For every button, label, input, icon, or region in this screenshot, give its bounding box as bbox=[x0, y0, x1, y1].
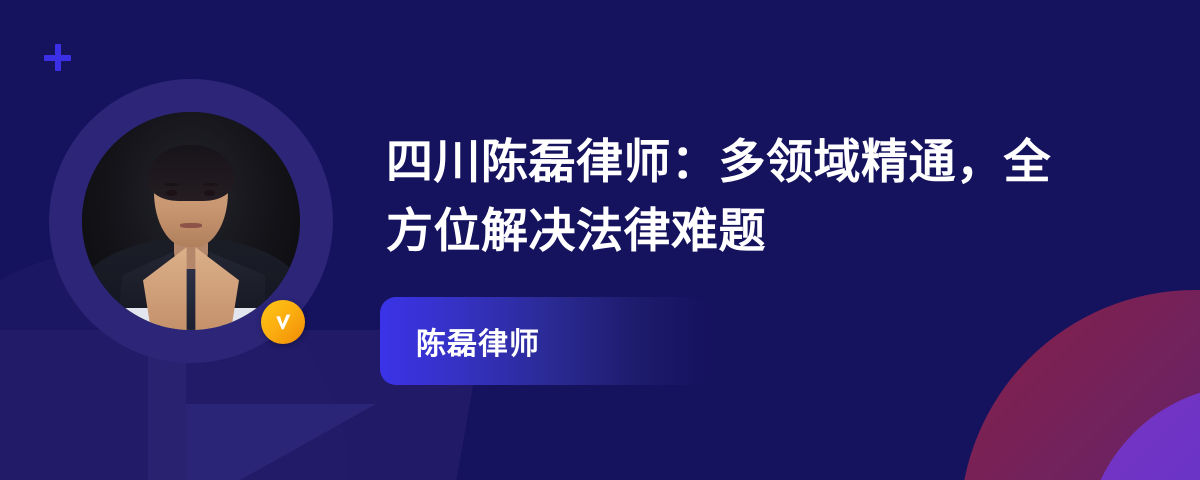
profile-banner: 四川陈磊律师：多领域精通，全方位解决法律难题 陈磊律师 bbox=[0, 0, 1200, 480]
lawyer-name-badge[interactable]: 陈磊律师 bbox=[380, 297, 710, 385]
plus-icon bbox=[44, 44, 71, 71]
page-title: 四川陈磊律师：多领域精通，全方位解决法律难题 bbox=[386, 128, 1086, 265]
verified-check-icon bbox=[261, 300, 305, 344]
avatar-photo bbox=[82, 112, 300, 330]
portrait-mouth bbox=[180, 223, 202, 227]
decorative-triangle bbox=[186, 404, 376, 480]
portrait-eye-right bbox=[204, 190, 215, 195]
lawyer-name-label: 陈磊律师 bbox=[416, 319, 540, 363]
portrait-eye-left bbox=[166, 190, 177, 195]
